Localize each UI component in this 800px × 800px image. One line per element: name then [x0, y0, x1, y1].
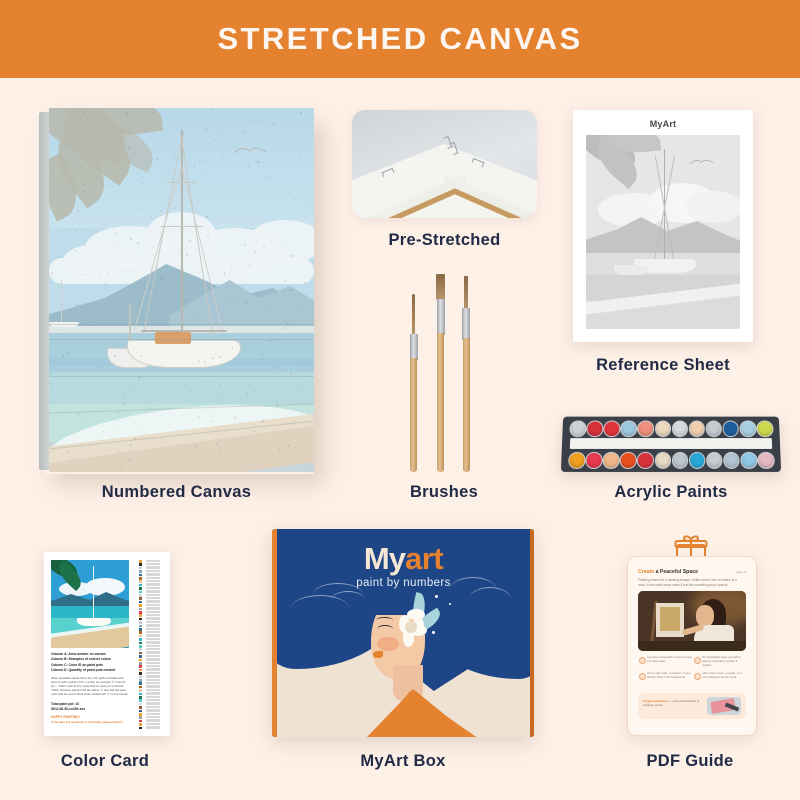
illustration-eyebrow — [376, 617, 393, 623]
logo-art-text: art — [405, 541, 443, 576]
color-code-cell — [146, 563, 160, 565]
pbn-number-dot — [62, 355, 64, 357]
acrylic-paints-image — [561, 417, 781, 472]
paint-pot — [655, 421, 671, 437]
paint-pot — [706, 452, 723, 468]
color-swatch — [139, 628, 142, 631]
pbn-number-dot — [59, 231, 60, 232]
illustration-hair-strand — [469, 587, 511, 612]
pbn-number-dot — [303, 363, 305, 365]
pbn-number-dot — [156, 158, 158, 160]
pbn-number-dot — [79, 223, 80, 224]
pdf-bullet-marker — [639, 657, 646, 664]
pbn-number-dot — [60, 123, 61, 124]
paint-pot — [603, 452, 620, 468]
pbn-number-dot — [291, 324, 293, 326]
color-code-cell — [146, 624, 160, 626]
pbn-number-dot — [153, 405, 154, 406]
paint-pot — [740, 452, 757, 468]
pdf-photo-canvas-art — [660, 607, 680, 631]
pdf-tip-box: Forget perfection — every brushstroke is… — [638, 693, 746, 719]
artwork-boat-spreader — [167, 182, 197, 183]
color-code-cell — [146, 638, 160, 640]
pbn-number-dot — [150, 442, 151, 443]
color-code-cell — [146, 651, 160, 653]
pbn-number-dot — [58, 256, 60, 258]
pbn-number-dot — [83, 112, 85, 114]
pbn-number-dot — [200, 299, 201, 300]
pbn-number-dot — [214, 139, 215, 140]
pbn-number-dot — [92, 188, 93, 189]
pbn-number-dot — [218, 440, 220, 442]
color-code-cell — [146, 648, 160, 650]
pbn-number-dot — [285, 280, 286, 281]
color-code-cell — [146, 597, 160, 599]
color-code-cell — [146, 706, 160, 708]
pbn-number-dot — [49, 383, 50, 384]
pbn-number-dot — [309, 159, 310, 160]
cc-boat-mast — [93, 566, 94, 622]
color-swatch — [139, 645, 142, 648]
color-swatch — [139, 713, 142, 716]
artwork-boat-spreader — [161, 226, 203, 227]
color-code-cell — [146, 672, 160, 674]
color-code-cell — [146, 696, 160, 698]
pbn-number-dot — [224, 273, 225, 274]
pbn-number-dot — [140, 355, 142, 357]
pbn-number-dot — [262, 420, 264, 422]
paint-pot — [705, 421, 722, 437]
pbn-number-dot — [258, 120, 260, 122]
color-code-cell — [146, 641, 160, 643]
pbn-number-dot — [127, 270, 129, 272]
pbn-number-dot — [141, 183, 142, 184]
color-swatch — [139, 597, 142, 600]
color-code-cell — [146, 566, 160, 568]
pbn-number-dot — [222, 153, 224, 155]
color-swatch — [139, 631, 142, 634]
pbn-number-dot — [301, 212, 302, 213]
cc-contact: If you have any questions or need help, … — [51, 721, 129, 725]
pbn-number-dot — [61, 267, 62, 268]
pbn-region-line — [49, 339, 314, 340]
color-code-cell — [146, 560, 160, 562]
illustration-sparkle — [435, 595, 438, 598]
color-code-cell — [146, 645, 160, 647]
pbn-number-dot — [290, 255, 291, 256]
color-swatch — [139, 594, 142, 597]
pbn-number-dot — [107, 273, 109, 275]
pbn-number-dot — [181, 285, 183, 287]
canvas-artwork — [49, 108, 314, 472]
pbn-number-dot — [160, 210, 162, 212]
pbn-number-dot — [195, 216, 196, 217]
pbn-region-line — [49, 376, 314, 377]
pdf-bullet-text: Sit comfortably, keep your elbow relaxed… — [702, 656, 746, 667]
color-code-cell — [146, 675, 160, 677]
logo-my-text: My — [364, 541, 405, 576]
pbn-number-dot — [217, 394, 219, 396]
color-swatch — [139, 703, 142, 706]
color-swatch — [139, 672, 142, 675]
color-swatch — [139, 659, 142, 662]
pbn-number-dot — [56, 329, 57, 330]
caption-pdf-guide: PDF Guide — [620, 752, 760, 771]
color-code-cell — [146, 665, 160, 667]
color-swatch — [139, 669, 142, 672]
caption-acrylic-paints: Acrylic Paints — [562, 483, 780, 502]
color-swatch — [139, 577, 142, 580]
pbn-number-dot — [153, 246, 154, 247]
brush-handle — [410, 358, 417, 472]
pbn-number-dot — [116, 412, 118, 414]
color-swatch — [139, 662, 142, 665]
brush-bristles — [436, 274, 445, 300]
pbn-number-dot — [214, 191, 215, 192]
pdf-bullet-marker — [639, 673, 646, 680]
pdf-heading: Create a Peaceful Space — [638, 569, 698, 575]
color-code-cell — [146, 709, 160, 711]
pbn-number-dot — [234, 138, 236, 140]
paint-pot — [637, 421, 654, 437]
color-swatch — [139, 682, 142, 685]
pbn-number-dot — [230, 111, 231, 112]
illustration-hair-strand — [331, 591, 365, 610]
pbn-number-dot — [73, 233, 74, 234]
pbn-number-dot — [126, 113, 128, 115]
color-code-cell — [146, 573, 160, 575]
pbn-number-dot — [114, 355, 116, 357]
color-code-cell — [146, 716, 160, 718]
color-card-swatch-row — [134, 727, 166, 730]
pdf-bullet-marker — [694, 673, 701, 680]
color-code-cell — [146, 604, 160, 606]
pbn-number-dot — [174, 207, 176, 209]
pbn-number-dot — [49, 198, 50, 199]
pbn-number-dot — [165, 178, 166, 179]
pbn-number-dot — [115, 219, 116, 220]
reference-sheet-artwork — [586, 135, 740, 329]
pbn-number-dot — [157, 198, 159, 200]
pbn-number-dot — [228, 151, 230, 153]
color-code-cell — [146, 617, 160, 619]
pbn-number-dot — [263, 265, 264, 266]
illustration-flower-center — [405, 621, 417, 633]
brush-bristles — [464, 276, 468, 310]
color-swatch — [139, 693, 142, 696]
illustration-sparkle — [449, 603, 451, 605]
pbn-number-dot — [239, 461, 240, 462]
color-code-cell — [146, 682, 160, 684]
pbn-number-dot — [112, 418, 113, 419]
pbn-number-dot — [129, 298, 130, 299]
paint-pot — [585, 452, 602, 468]
pbn-number-dot — [134, 438, 136, 440]
brush-ferrule — [437, 299, 445, 335]
color-swatch — [139, 720, 142, 723]
brush-handle — [463, 338, 470, 472]
pbn-region-line — [49, 324, 314, 325]
color-code-cell — [146, 628, 160, 630]
paint-pot — [568, 452, 585, 468]
pbn-number-dot — [306, 470, 308, 472]
pbn-number-dot — [51, 272, 52, 273]
color-code-cell — [146, 713, 160, 715]
pbn-number-dot — [122, 317, 124, 319]
pbn-number-dot — [75, 250, 76, 251]
color-code-cell — [146, 662, 160, 664]
pdf-bullet-text: Put on soft music, a podcast, or your fa… — [647, 672, 695, 680]
pbn-number-dot — [207, 381, 209, 383]
pbn-number-dot — [82, 154, 83, 155]
color-code-cell — [146, 655, 160, 657]
pbn-number-dot — [66, 163, 68, 165]
color-code-cell — [146, 611, 160, 613]
pdf-bullet-text: Add a plant or two, a candle, or a cozy … — [702, 672, 746, 680]
pbn-number-dot — [76, 147, 77, 148]
pbn-number-dot — [207, 236, 209, 238]
myart-box-image: Myart paint by numbers — [272, 529, 534, 737]
pbn-number-dot — [160, 232, 161, 233]
color-code-cell — [146, 587, 160, 589]
cc-legend-d: Column D: Quantity of paint pots needed — [51, 668, 129, 673]
pbn-number-dot — [272, 338, 274, 340]
paint-pot — [689, 452, 706, 468]
pbn-number-dot — [77, 284, 78, 285]
pbn-number-dot — [268, 176, 269, 177]
pbn-number-dot — [287, 164, 288, 165]
caption-color-card: Color Card — [30, 752, 180, 771]
pbn-number-dot — [77, 210, 79, 212]
pbn-number-dot — [129, 459, 131, 461]
pbn-number-dot — [157, 123, 158, 124]
pbn-number-dot — [150, 216, 152, 218]
paint-pot — [722, 421, 739, 437]
brush-ferrule — [462, 308, 470, 340]
pbn-number-dot — [206, 216, 207, 217]
color-swatch — [139, 563, 142, 566]
pbn-number-dot — [268, 285, 269, 286]
pdf-bullet-marker — [694, 657, 701, 664]
color-swatch — [139, 574, 142, 577]
color-code-cell — [146, 699, 160, 701]
pbn-number-dot — [251, 264, 252, 265]
color-code-cell — [146, 580, 160, 582]
pbn-number-dot — [181, 383, 183, 385]
color-swatch — [139, 665, 142, 668]
brush-handle — [437, 333, 444, 472]
pbn-number-dot — [179, 279, 180, 280]
color-code-cell — [146, 570, 160, 572]
color-code-cell — [146, 685, 160, 687]
caption-myart-box: MyArt Box — [272, 752, 534, 771]
pbn-number-dot — [218, 310, 219, 311]
paint-pot — [654, 452, 671, 468]
cc-boat-hull — [77, 618, 111, 626]
pbn-number-dot — [79, 166, 81, 168]
paint-pot — [620, 452, 637, 468]
pbn-number-dot — [276, 404, 278, 406]
pbn-number-dot — [216, 315, 217, 316]
page-header: STRETCHED CANVAS — [0, 0, 800, 78]
pbn-number-dot — [91, 325, 93, 327]
color-code-cell — [146, 634, 160, 636]
color-code-cell — [146, 583, 160, 585]
pbn-number-dot — [52, 389, 53, 390]
artwork-boat-hull — [127, 340, 241, 368]
pbn-number-dot — [232, 347, 234, 349]
color-code-cell — [146, 594, 160, 596]
pbn-number-dot — [100, 128, 101, 129]
color-code-cell — [146, 600, 160, 602]
pbn-number-dot — [246, 111, 247, 112]
paint-pot — [689, 421, 706, 437]
pbn-number-dot — [88, 128, 89, 129]
color-swatch — [139, 614, 142, 617]
pbn-number-dot — [297, 336, 298, 337]
pdf-photo — [638, 591, 746, 651]
pbn-number-dot — [290, 289, 292, 291]
illustration-eye-closed — [377, 625, 393, 633]
color-swatch — [139, 611, 142, 614]
pbn-number-dot — [155, 199, 156, 200]
pdf-photo-table — [638, 641, 746, 651]
pbn-number-dot — [238, 440, 239, 441]
pbn-number-dot — [253, 430, 255, 432]
color-code-cell — [146, 692, 160, 694]
pbn-number-dot — [289, 192, 290, 193]
pbn-number-dot — [58, 283, 60, 285]
color-swatch — [139, 652, 142, 655]
pdf-photo-person-face — [696, 605, 714, 627]
pbn-number-dot — [250, 119, 252, 121]
pbn-number-dot — [195, 445, 196, 446]
pdf-tip-text: Forget perfection — every brushstroke is… — [643, 699, 701, 707]
pbn-number-dot — [77, 413, 78, 414]
pbn-number-dot — [263, 246, 265, 248]
paint-pot — [672, 421, 688, 437]
box-right-edge — [530, 529, 534, 737]
color-swatch — [139, 642, 142, 645]
color-swatch — [139, 618, 142, 621]
paint-pot — [637, 452, 654, 468]
color-card-image: Column A: Area number on canvas Column B… — [44, 552, 170, 736]
pbn-number-dot — [149, 407, 151, 409]
pdf-page-number: page 01 — [736, 570, 747, 574]
color-swatch — [139, 727, 142, 730]
caption-numbered-canvas: Numbered Canvas — [39, 483, 314, 502]
caption-reference-sheet: Reference Sheet — [573, 356, 753, 375]
paint-tray-label-strip — [570, 438, 772, 449]
color-swatch — [139, 584, 142, 587]
reference-sheet-image: MyArt — [573, 110, 753, 342]
pbn-number-dot — [56, 126, 57, 127]
color-swatch — [139, 716, 142, 719]
pdf-bullet-text: Lay down a dropcloth or towel to keep yo… — [647, 656, 695, 664]
color-code-cell — [146, 577, 160, 579]
pbn-number-dot — [130, 238, 132, 240]
color-swatch — [139, 706, 142, 709]
pbn-number-dot — [99, 274, 100, 275]
color-code-cell — [146, 590, 160, 592]
pbn-number-dot — [249, 385, 250, 386]
pbn-number-dot — [167, 171, 169, 173]
color-swatch — [139, 655, 142, 658]
paint-pot — [620, 421, 637, 437]
pbn-number-dot — [76, 229, 77, 230]
pdf-heading-rest: a Peaceful Space — [654, 569, 698, 575]
pbn-number-dot — [210, 421, 211, 422]
color-swatch — [139, 625, 142, 628]
pbn-number-dot — [244, 131, 246, 133]
pbn-number-dot — [247, 392, 249, 394]
pbn-number-dot — [160, 277, 162, 279]
pbn-number-dot — [290, 373, 291, 374]
pbn-number-dot — [183, 133, 184, 134]
paint-pot — [739, 421, 756, 437]
pbn-number-dot — [294, 212, 295, 213]
pbn-number-dot — [114, 269, 115, 270]
brush-bristles — [412, 294, 415, 336]
color-code-cell — [146, 631, 160, 633]
paint-pot — [757, 452, 774, 468]
pbn-number-dot — [116, 214, 118, 216]
ref-second-boat — [614, 265, 648, 275]
pbn-number-dot — [120, 468, 122, 470]
color-swatch — [139, 723, 142, 726]
color-code-cell — [146, 621, 160, 623]
pbn-number-dot — [193, 165, 194, 166]
pbn-number-dot — [117, 246, 119, 248]
brush-ferrule — [410, 334, 418, 360]
pdf-heading-accent: Create — [638, 569, 654, 575]
pbn-number-dot — [234, 197, 235, 198]
color-card-instructions: Column A: Area number on canvas Column B… — [51, 652, 129, 725]
color-swatch — [139, 648, 142, 651]
color-code-cell — [146, 668, 160, 670]
pbn-number-dot — [248, 165, 250, 167]
cc-sku: SKU:4D-50-cu300-xxx — [51, 707, 129, 712]
pbn-number-dot — [98, 367, 100, 369]
color-swatch — [139, 570, 142, 573]
pbn-number-dot — [189, 240, 191, 242]
color-swatch — [139, 635, 142, 638]
reference-sheet-logo: MyArt — [573, 119, 753, 129]
pbn-number-dot — [194, 116, 196, 118]
pbn-number-dot — [62, 232, 63, 233]
paint-pot — [756, 421, 773, 437]
pbn-number-dot — [117, 452, 118, 453]
color-card-swatch-table — [134, 560, 166, 730]
paint-pot — [569, 421, 586, 437]
pbn-number-dot — [75, 139, 76, 140]
color-swatch — [139, 601, 142, 604]
pbn-number-dot — [262, 154, 264, 156]
pbn-number-dot — [76, 304, 77, 305]
color-swatch — [139, 608, 142, 611]
myart-logo: Myart — [277, 541, 530, 577]
pbn-number-dot — [204, 352, 205, 353]
pbn-number-dot — [255, 390, 257, 392]
color-code-cell — [146, 689, 160, 691]
color-code-cell — [146, 679, 160, 681]
pbn-number-dot — [186, 254, 188, 256]
pdf-tip-thumbnail — [707, 697, 741, 715]
pbn-number-dot — [157, 217, 158, 218]
pbn-number-dot — [245, 301, 247, 303]
pdf-guide-image: Create a Peaceful Space page 01 Painting… — [627, 556, 757, 736]
pbn-number-dot — [199, 360, 200, 361]
